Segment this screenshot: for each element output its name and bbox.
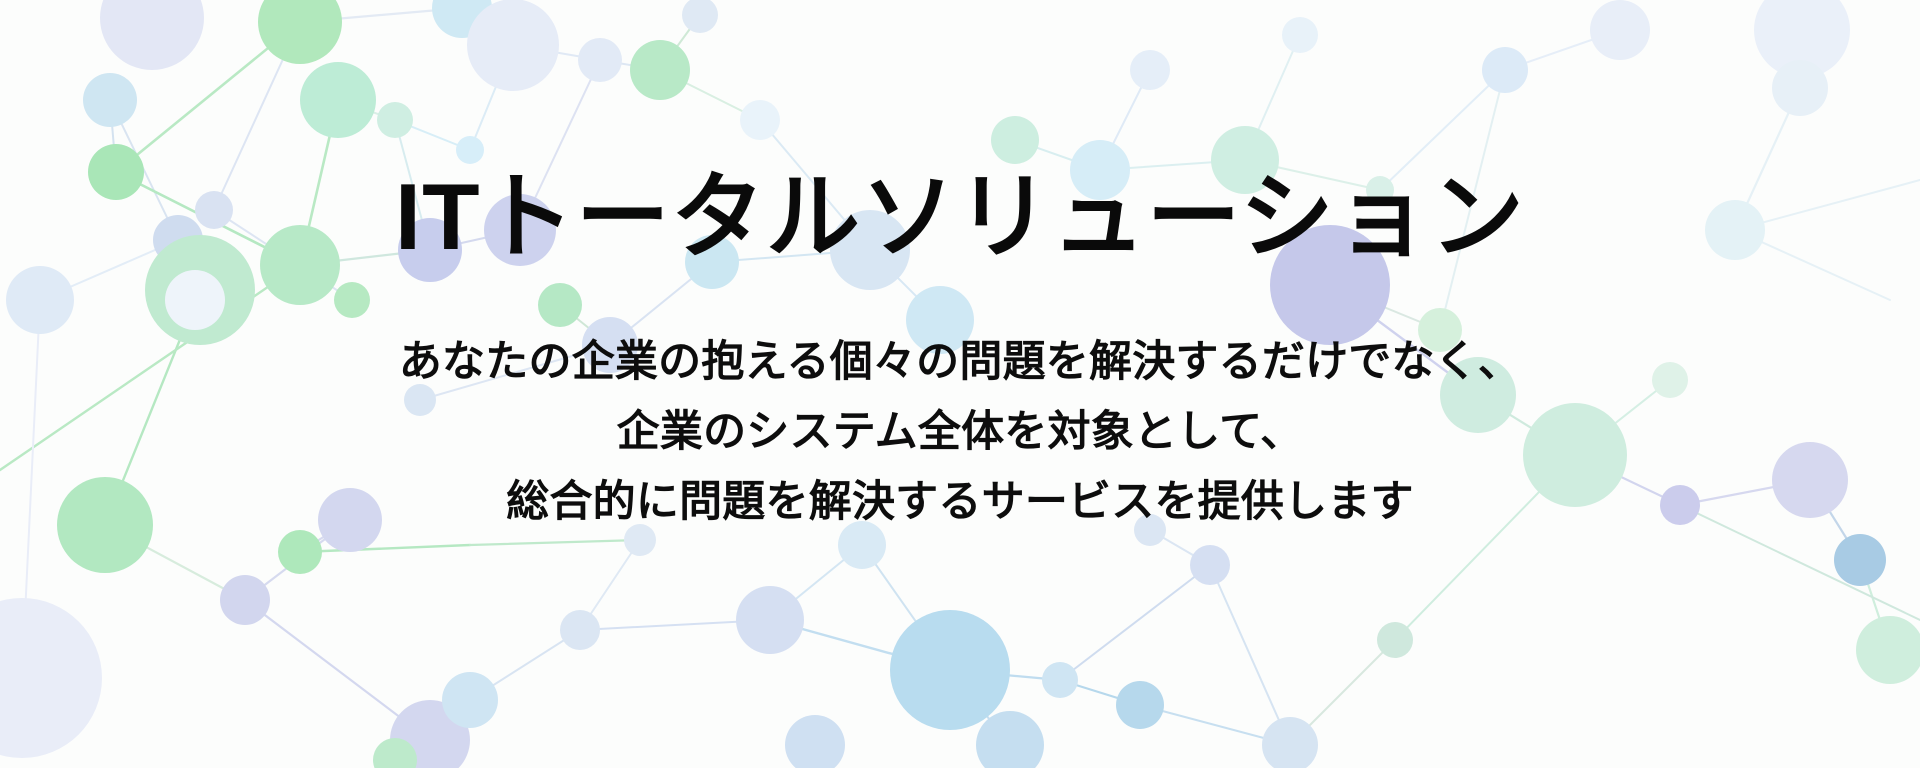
subtitle-line-2: 企業のシステム全体を対象として、 (399, 397, 1521, 467)
hero-subtitle: あなたの企業の抱える個々の問題を解決するだけでなく、 企業のシステム全体を対象と… (399, 327, 1521, 537)
subtitle-line-1: あなたの企業の抱える個々の問題を解決するだけでなく、 (399, 327, 1521, 397)
hero-content: ITトータルソリューション あなたの企業の抱える個々の問題を解決するだけでなく、… (0, 0, 1920, 768)
hero-banner: ITトータルソリューション あなたの企業の抱える個々の問題を解決するだけでなく、… (0, 0, 1920, 768)
subtitle-line-3: 総合的に問題を解決するサービスを提供します (399, 467, 1521, 537)
page-title: ITトータルソリューション (395, 170, 1525, 264)
